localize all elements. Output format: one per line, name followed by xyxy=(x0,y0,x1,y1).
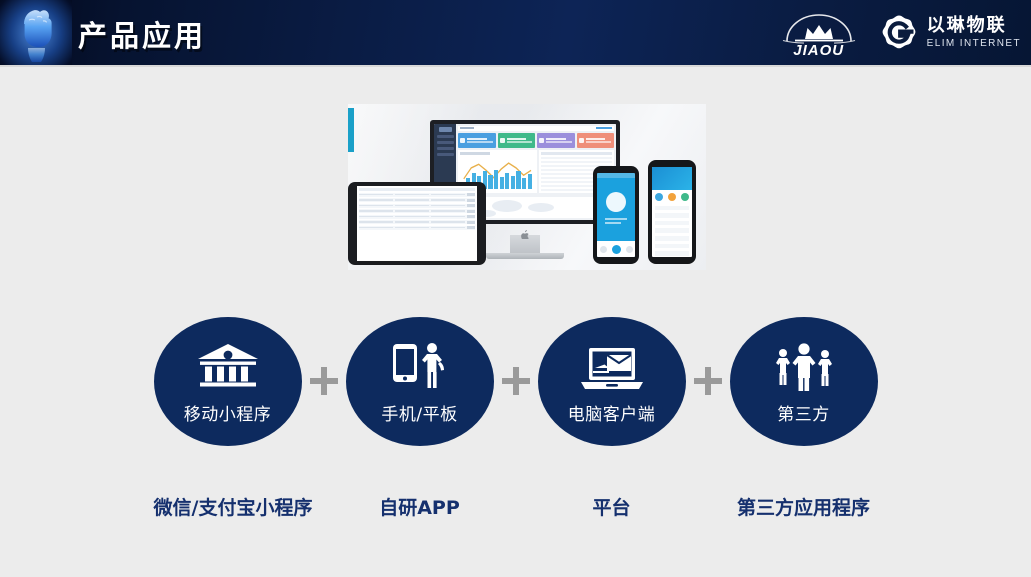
imac-stand-foot xyxy=(486,253,564,259)
caption-row: 微信/支付宝小程序 自研APP 平台 第三方应用程序 xyxy=(0,488,1031,524)
plus-icon xyxy=(693,366,723,396)
jiaou-logo: JIAOU xyxy=(777,8,861,58)
dashboard-topbar xyxy=(458,126,614,131)
flow-node-label: 电脑客户端 xyxy=(568,400,656,425)
flow-node-mobile-tablet[interactable]: 手机/平板 xyxy=(346,317,494,446)
header-divider xyxy=(0,65,1031,67)
elim-logo-cn: 以琳物联 xyxy=(927,17,1021,35)
phone-app-list-screen xyxy=(652,167,692,257)
page-title: 产品应用 xyxy=(78,13,206,55)
tablet-device xyxy=(348,182,486,265)
jiaou-logo-text: JIAOU xyxy=(777,42,861,59)
application-flow-row: 移动小程序 手机/平板 xyxy=(0,316,1031,446)
three-people-icon xyxy=(769,338,839,392)
stat-card xyxy=(537,133,575,148)
caption-third-party-app: 第三方应用程序 xyxy=(730,493,878,520)
stat-card xyxy=(498,133,536,148)
phone-device-one xyxy=(593,166,639,264)
flow-node-mini-program[interactable]: 移动小程序 xyxy=(154,317,302,446)
raised-fist-icon xyxy=(14,4,58,62)
accent-bar xyxy=(348,108,354,152)
plus-separator-3 xyxy=(686,366,730,396)
laptop-mail-icon xyxy=(579,338,645,392)
stat-card xyxy=(577,133,615,148)
flow-node-label: 手机/平板 xyxy=(381,400,457,425)
elim-logo: 以琳物联 ELIM INTERNET xyxy=(879,13,1021,53)
flow-node-label: 移动小程序 xyxy=(184,400,272,425)
caption-self-developed-app: 自研APP xyxy=(346,493,494,520)
elim-logo-en: ELIM INTERNET xyxy=(927,39,1021,49)
plus-separator-1 xyxy=(302,366,346,396)
page-header: 产品应用 JIAOU 以琳物联 ELIM INTERNET xyxy=(0,0,1031,65)
apple-logo-icon xyxy=(521,226,529,235)
multi-device-mockup xyxy=(348,104,706,270)
phone-device-two xyxy=(648,160,696,264)
sunrise-crown-icon xyxy=(777,8,861,46)
fist-graphic xyxy=(0,0,72,65)
caption-platform: 平台 xyxy=(538,493,686,520)
flow-node-third-party[interactable]: 第三方 xyxy=(730,317,878,446)
plus-icon xyxy=(501,366,531,396)
plus-icon xyxy=(309,366,339,396)
bank-building-icon xyxy=(196,338,260,392)
phone-app-home-screen xyxy=(597,173,635,257)
flow-node-desktop-client[interactable]: 电脑客户端 xyxy=(538,317,686,446)
flow-node-label: 第三方 xyxy=(777,400,830,425)
header-logos: JIAOU 以琳物联 ELIM INTERNET xyxy=(777,0,1021,65)
g-hexagon-icon xyxy=(879,13,919,53)
plus-separator-2 xyxy=(494,366,538,396)
dashboard-stat-cards xyxy=(458,133,614,148)
stat-card xyxy=(458,133,496,148)
caption-mini-program: 微信/支付宝小程序 xyxy=(154,493,302,520)
tablet-screen xyxy=(357,186,477,261)
smartphone-person-icon xyxy=(388,338,452,392)
